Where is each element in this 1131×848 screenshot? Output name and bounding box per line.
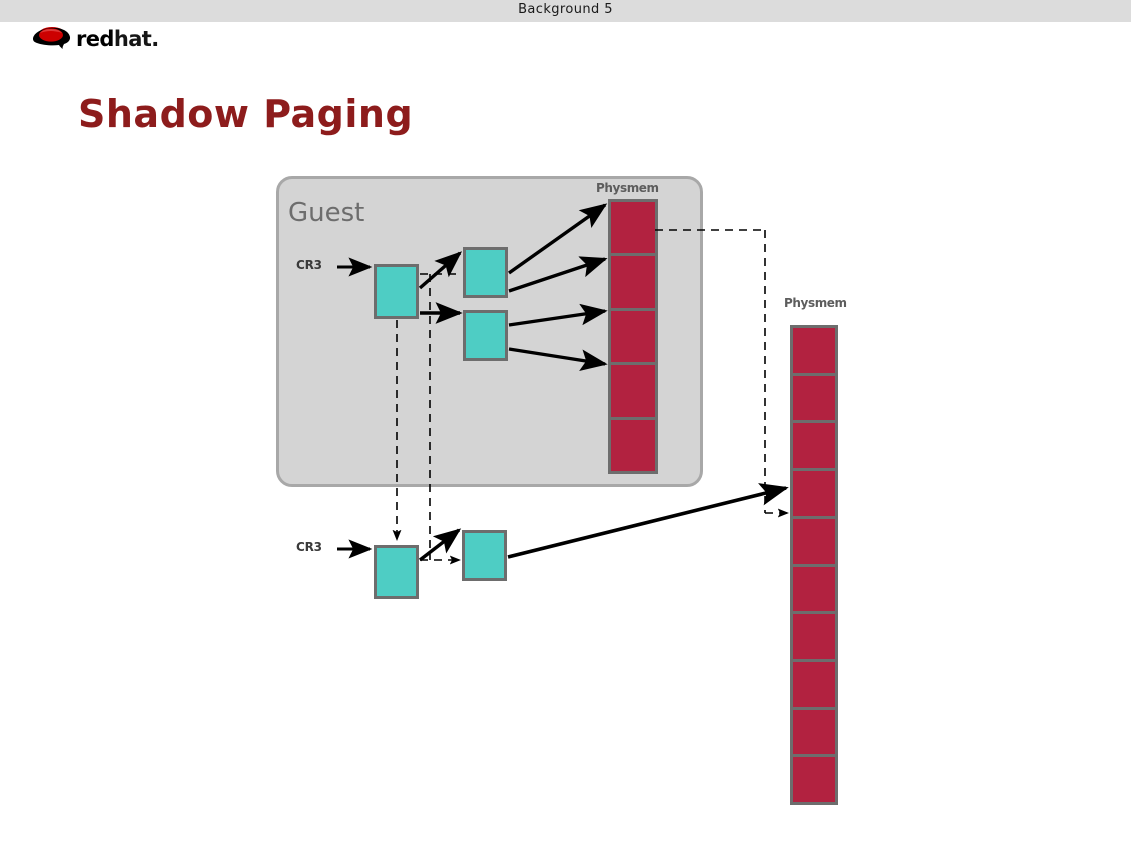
shadow-cr3-label: CR3 [296, 540, 322, 554]
guest-page-table-lower [463, 310, 508, 361]
host-physmem-label: Physmem [784, 296, 847, 310]
guest-physmem-cell [611, 202, 655, 256]
host-physmem-cell [793, 471, 835, 519]
shadow-paging-diagram: Guest CR3 Physmem CR3 [0, 0, 1131, 848]
shadow-page-table-root [374, 545, 419, 599]
host-physmem-cell [793, 519, 835, 567]
shadow-page-table-leaf [462, 530, 507, 581]
host-physmem-cell [793, 376, 835, 424]
slide-canvas: Background 5 redhat. Shadow Paging Guest… [0, 0, 1131, 848]
arrow-shadow-leaf-to-host-physmem [508, 488, 786, 557]
guest-physmem-column [608, 199, 658, 474]
host-physmem-cell [793, 328, 835, 376]
guest-cr3-label: CR3 [296, 258, 322, 272]
guest-panel-label: Guest [288, 198, 364, 228]
guest-page-table-root [374, 264, 419, 319]
guest-physmem-cell [611, 256, 655, 310]
host-physmem-cell [793, 614, 835, 662]
guest-physmem-cell [611, 420, 655, 471]
host-physmem-cell [793, 662, 835, 710]
guest-physmem-cell [611, 365, 655, 419]
host-physmem-cell [793, 567, 835, 615]
guest-page-table-upper [463, 247, 508, 298]
host-physmem-column [790, 325, 838, 805]
host-physmem-cell [793, 710, 835, 758]
host-physmem-cell [793, 757, 835, 802]
host-physmem-cell [793, 423, 835, 471]
guest-physmem-label: Physmem [596, 181, 659, 195]
arrow-shadow-root-to-leaf [420, 530, 459, 560]
guest-physmem-cell [611, 311, 655, 365]
